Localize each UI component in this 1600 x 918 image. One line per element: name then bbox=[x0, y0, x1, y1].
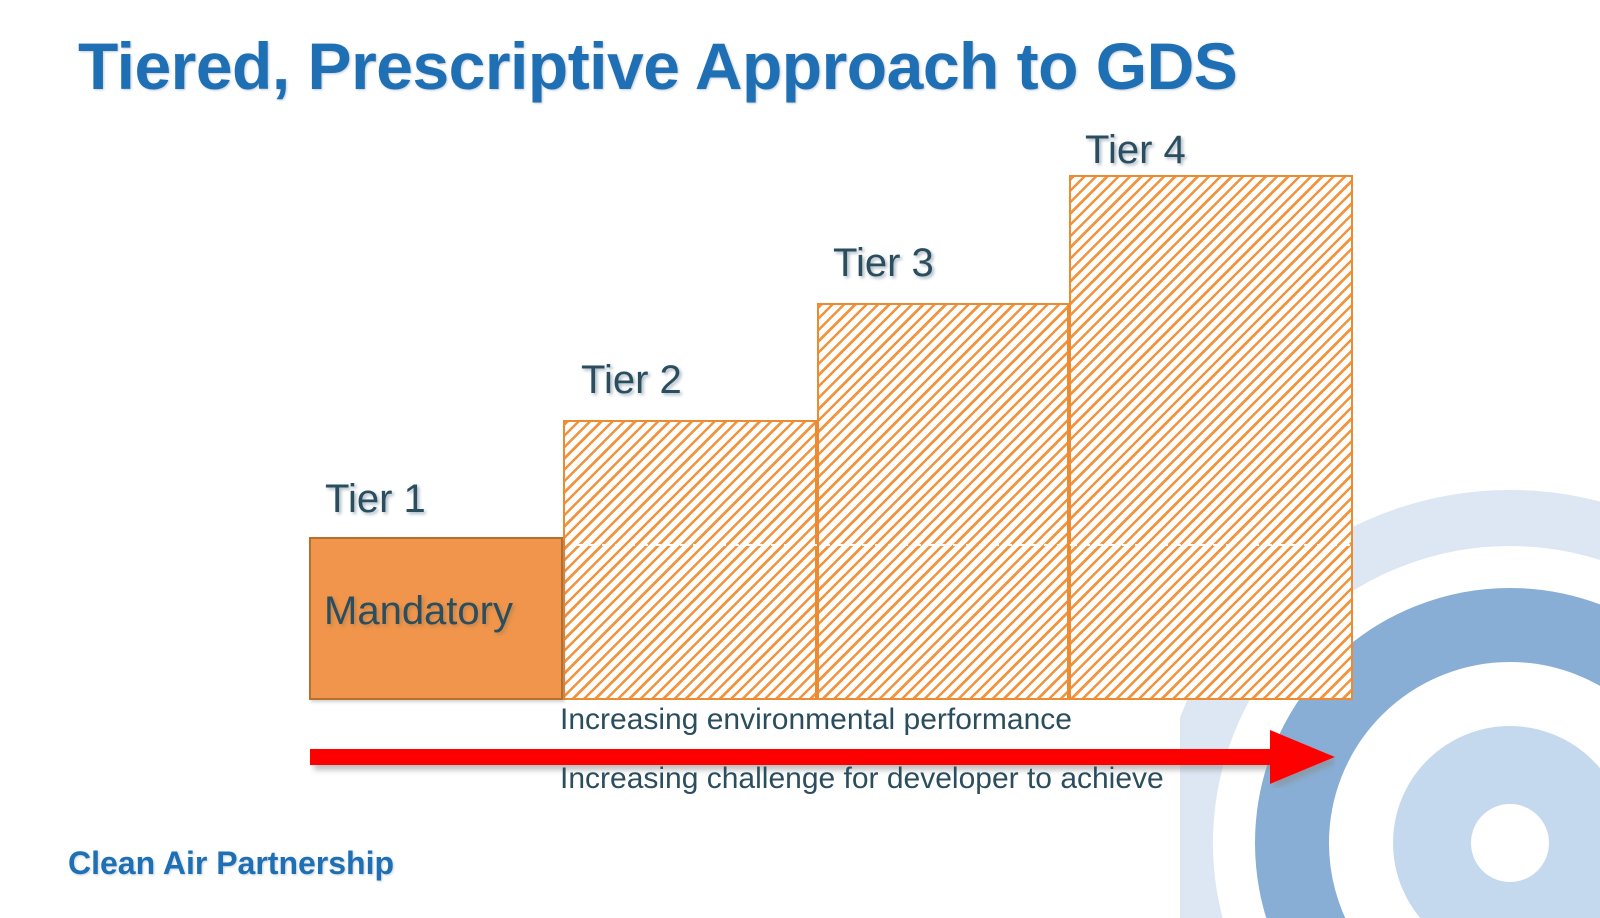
slide-canvas: Tiered, Prescriptive Approach to GDS Tie… bbox=[0, 0, 1600, 918]
bar-tier-2 bbox=[563, 420, 817, 700]
bar-label-tier-1: Tier 1 bbox=[325, 477, 426, 522]
bar-inner-label-mandatory: Mandatory bbox=[324, 589, 513, 634]
footer-organization-name: Clean Air Partnership bbox=[68, 845, 394, 882]
bar-label-tier-3: Tier 3 bbox=[833, 241, 934, 286]
tier-1-level-guideline bbox=[576, 544, 1351, 546]
bar-label-tier-2: Tier 2 bbox=[581, 358, 682, 403]
bar-tier-4 bbox=[1069, 175, 1353, 700]
bar-label-tier-4: Tier 4 bbox=[1085, 128, 1186, 173]
caption-increasing-challenge-for-developer: Increasing challenge for developer to ac… bbox=[560, 762, 1164, 796]
bar-tier-3 bbox=[817, 303, 1069, 700]
